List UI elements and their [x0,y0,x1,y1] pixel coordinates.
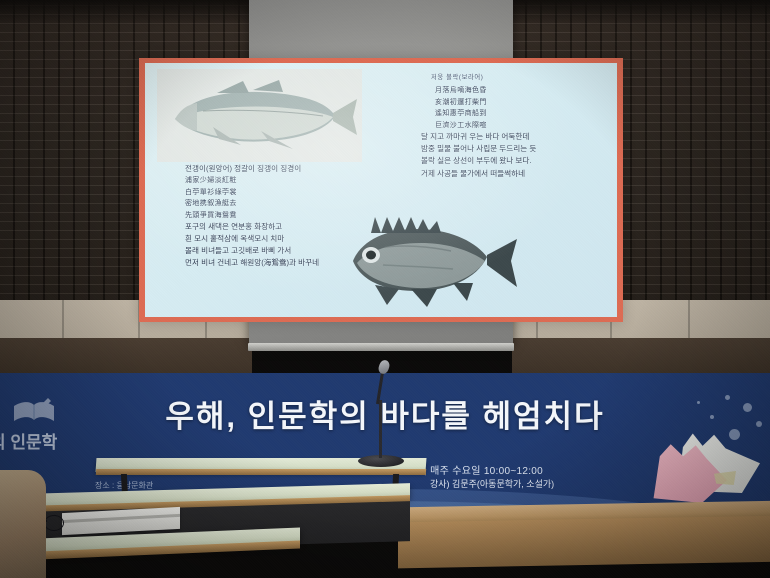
poem-line: 흰 모시 홑적삼에 옥색모시 치마 [185,235,400,243]
poem-line: 먼저 비녀 건네고 해원앙(海鴛鴦)과 바꾸네 [185,259,400,267]
slide-poem-right-column: 저웅 볼락(보라어)月落烏嘀海色昏亥潮初邏打柴門遙知惠苧商船到巨濟沙工水際喧달 … [421,75,616,182]
poem-line: 遙知惠苧商船到 [421,110,616,117]
lecture-hall-photo: 전갱이(원앙어) 정갈이 징갱이 징경이浦家少婦淡紅粧白苧單衫綠苧裳密地携叙漁艇… [0,0,770,578]
projection-screen: 전갱이(원앙어) 정갈이 징갱이 징경이浦家少婦淡紅粧白苧單衫綠苧裳密地携叙漁艇… [249,0,513,344]
slide-content: 전갱이(원앙어) 정갈이 징갱이 징경이浦家少婦淡紅粧白苧單衫綠苧裳密地携叙漁艇… [145,63,617,317]
poem-line: 亥潮初邏打柴門 [421,99,616,106]
poem-line: 巨濟沙工水際喧 [421,122,616,129]
poem-line: 거제 사공들 물가에서 떠들썩하네 [421,170,616,178]
poem-line: 달 지고 까마귀 우는 바다 어둑한데 [421,133,616,141]
poem-line: 先頭爭買海鴛鴦 [185,212,400,219]
slide-poem-left-column: 전갱이(원앙어) 정갈이 징갱이 징경이浦家少婦淡紅粧白苧單衫綠苧裳密地携叙漁艇… [185,165,400,271]
screen-bottom-bar [248,343,514,351]
poem-line: 포구의 새댁은 연분홍 화장하고 [185,223,400,231]
poem-line: 白苧單衫綠苧裳 [185,189,400,196]
poem-line: 전갱이(원앙어) 정갈이 징갱이 징경이 [185,165,400,173]
projected-slide: 전갱이(원앙어) 정갈이 징갱이 징경이浦家少婦淡紅粧白苧單衫綠苧裳密地携叙漁艇… [139,58,623,322]
origami-lotus-decoration [652,431,762,503]
poem-line: 밤중 밀물 불어나 사립문 두드리는 듯 [421,145,616,153]
poem-line: 몰래 비녀들고 고깃배로 바삐 가서 [185,247,400,255]
speaker-table-edge [96,469,426,475]
poem-line: 볼락 실은 상선이 부두에 왔나 보다. [421,157,616,165]
poem-line: 浦家少婦淡紅粧 [185,177,400,184]
banner-title: 우해, 인문학의 바다를 헤엄치다 [0,391,770,436]
desk-right-panel [398,516,770,569]
poem-line: 저웅 볼락(보라어) [421,75,616,81]
banner-speaker: 강사) 김문주(아동문학가, 소설가) [430,477,554,490]
horse-mackerel-photo [157,69,362,162]
poem-line: 密地携叙漁艇去 [185,200,400,207]
microphone-stem [379,400,382,458]
poem-line: 月落烏嘀海色昏 [421,87,616,94]
audience-chair [0,470,46,578]
